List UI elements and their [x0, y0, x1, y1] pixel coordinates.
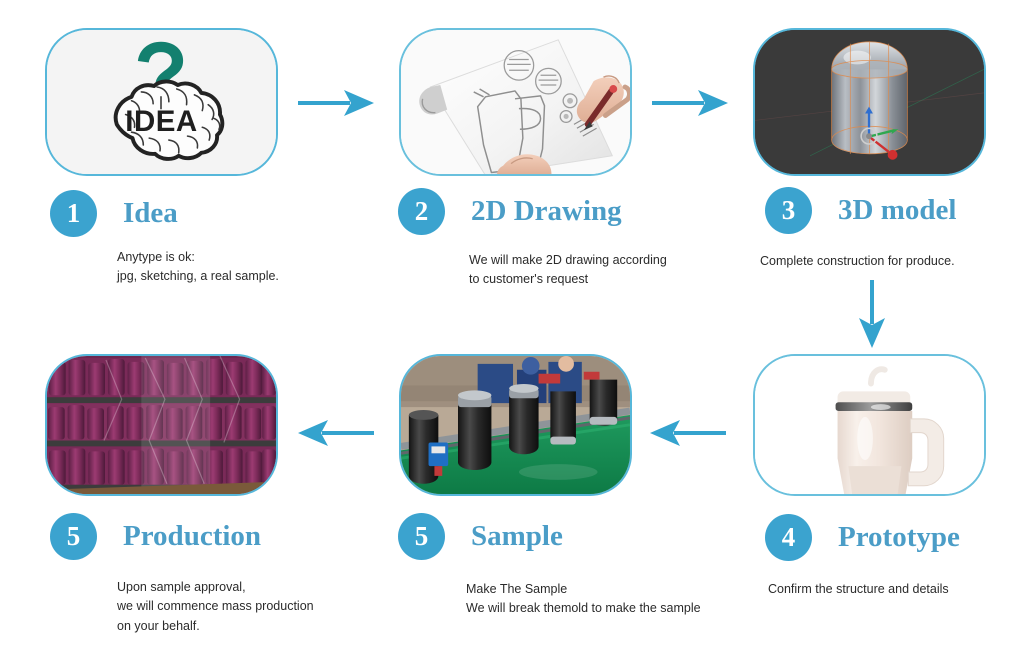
step-image-card-prototype — [753, 354, 986, 496]
step-title-prototype: Prototype — [838, 521, 960, 554]
step-number-badge-4: 4 — [765, 514, 812, 561]
step-description-production: Upon sample approval, we will commence m… — [117, 578, 397, 636]
arrow-sample-to-production — [296, 415, 376, 451]
step-description-2d-drawing: We will make 2D drawing according to cus… — [469, 251, 739, 290]
arrow-idea-to-2d-drawing — [296, 85, 376, 121]
step-image-card-3d-model — [753, 28, 986, 176]
warehouse-purple-tumblers-photo — [47, 356, 276, 496]
hand-drawing-2d-sketch-photo — [401, 30, 630, 175]
step-title-idea: Idea — [123, 197, 178, 230]
cream-tumbler-prototype-photo — [755, 356, 984, 496]
step-header-prototype: 4 Prototype — [765, 514, 960, 561]
svg-text:IDEA: IDEA — [125, 105, 197, 138]
step-description-idea: Anytype is ok: jpg, sketching, a real sa… — [117, 248, 367, 287]
step-header-idea: 1 Idea — [50, 190, 178, 237]
step-image-card-2d-drawing — [399, 28, 632, 176]
step-number-badge-2: 2 — [398, 188, 445, 235]
step-header-2d-drawing: 2 2D Drawing — [398, 188, 622, 235]
arrow-prototype-to-sample — [648, 415, 728, 451]
step-image-card-production — [45, 354, 278, 496]
step-title-2d-drawing: 2D Drawing — [471, 195, 622, 228]
process-flow-diagram: IDEA — [0, 0, 1024, 646]
step-title-3d-model: 3D model — [838, 194, 956, 227]
step-number-badge-sample: 5 — [398, 513, 445, 560]
arrow-2d-drawing-to-3d-model — [650, 85, 730, 121]
arrow-3d-model-to-prototype — [854, 278, 890, 350]
step-number-badge-3: 3 — [765, 187, 812, 234]
step-title-production: Production — [123, 520, 261, 553]
step-title-sample: Sample — [471, 520, 563, 553]
step-description-prototype: Confirm the structure and details — [768, 580, 1018, 599]
step-image-card-idea: IDEA — [45, 28, 278, 176]
step-description-sample: Make The Sample We will break themold to… — [466, 580, 766, 619]
3d-cad-model-viewport — [755, 30, 984, 175]
factory-line-black-tumblers-photo — [401, 356, 630, 496]
step-number-badge-1: 1 — [50, 190, 97, 237]
step-image-card-sample — [399, 354, 632, 496]
step-number-badge-production: 5 — [50, 513, 97, 560]
idea-brain-illustration: IDEA — [47, 30, 276, 175]
step-header-sample: 5 Sample — [398, 513, 563, 560]
step-header-3d-model: 3 3D model — [765, 187, 956, 234]
step-header-production: 5 Production — [50, 513, 261, 560]
step-description-3d-model: Complete construction for produce. — [760, 252, 1020, 271]
